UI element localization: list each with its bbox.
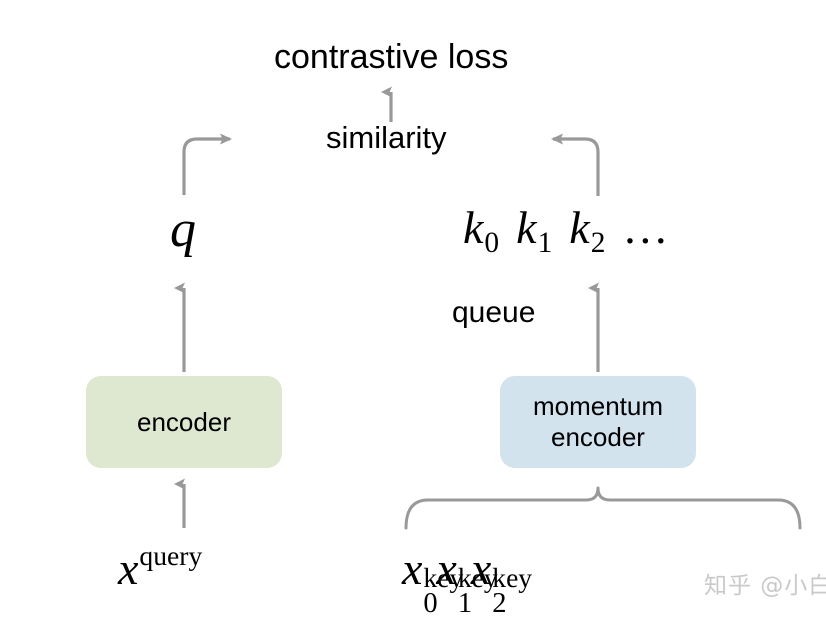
momentum-encoder-line-1: momentum xyxy=(533,391,663,421)
contrastive-loss-label: contrastive loss xyxy=(274,40,508,74)
key-symbol-1: k1 xyxy=(516,205,552,251)
x-key-symbol-2-subscript: 2 xyxy=(492,590,506,619)
momentum-encoder-node[interactable]: momentum encoder xyxy=(500,376,696,468)
arrow-q-to-similarity xyxy=(184,139,230,195)
query-symbol: q xyxy=(170,204,196,256)
key-symbol-1-subscript: 1 xyxy=(538,229,553,258)
brace-xkeys xyxy=(406,488,800,528)
x-key-symbols-row: x0key x1key x2key xyxy=(402,546,491,592)
key-symbol-2: k2 xyxy=(569,205,605,251)
connector-layer xyxy=(0,0,826,634)
x-key-symbol-0-subscript: 0 xyxy=(423,590,437,619)
key-symbol-1-base: k xyxy=(516,205,536,251)
x-key-symbol-2-superscript: key xyxy=(492,564,532,592)
zhihu-watermark: 知乎 @小白 xyxy=(704,566,826,600)
encoder-node-label: encoder xyxy=(137,407,231,438)
diagram-canvas: contrastive loss similarity queue q k0 k… xyxy=(0,0,826,634)
similarity-label: similarity xyxy=(326,122,447,153)
key-symbols-row: k0 k1 k2 … xyxy=(463,205,670,251)
x-key-symbol-1-subscript: 1 xyxy=(458,590,472,619)
momentum-encoder-line-2: encoder xyxy=(551,422,645,452)
queue-label: queue xyxy=(452,298,535,328)
key-symbol-2-subscript: 2 xyxy=(591,229,606,258)
x-key-symbol-1: x1key xyxy=(436,546,456,592)
x-key-symbol-1-base: x xyxy=(436,543,456,594)
momentum-encoder-node-label: momentum encoder xyxy=(533,391,663,452)
key-symbol-2-base: k xyxy=(569,205,589,251)
encoder-node[interactable]: encoder xyxy=(86,376,282,468)
x-key-symbol-2: x2key xyxy=(471,546,491,592)
x-query-symbol: xquery xyxy=(118,546,202,592)
x-query-base: x xyxy=(118,543,138,594)
x-query-superscript: query xyxy=(139,540,202,571)
x-key-symbol-2-base: x xyxy=(471,543,491,594)
key-symbol-0-base: k xyxy=(463,205,483,251)
key-symbols-ellipsis: … xyxy=(622,205,670,251)
key-symbol-0-subscript: 0 xyxy=(484,229,499,258)
x-key-symbol-0: x0key xyxy=(402,546,422,592)
key-symbol-0: k0 xyxy=(463,205,499,251)
x-key-symbol-0-base: x xyxy=(402,543,422,594)
arrow-keys-to-similarity xyxy=(553,139,598,196)
